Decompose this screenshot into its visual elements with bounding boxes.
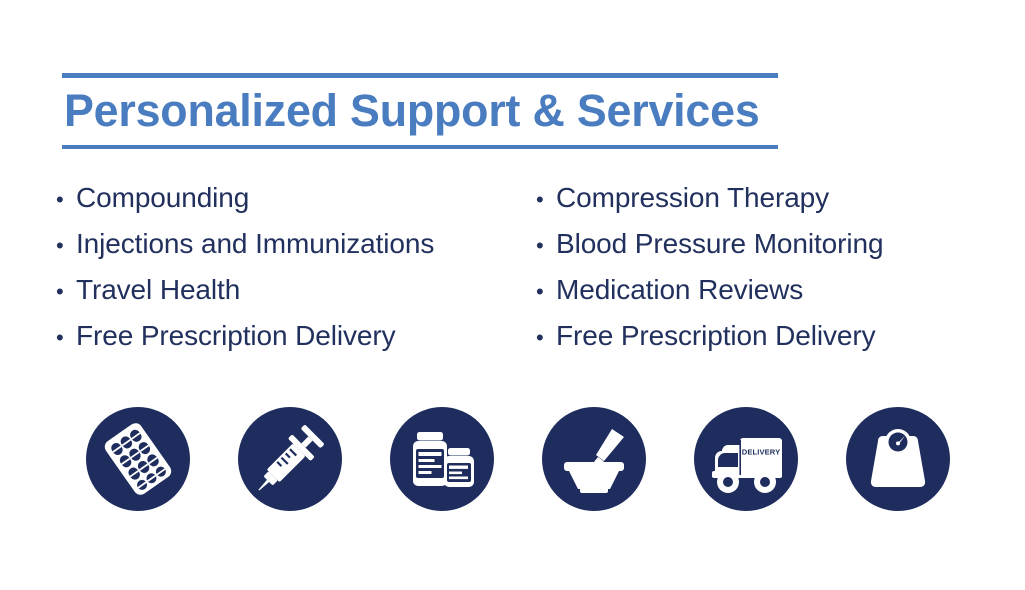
- services-column-left: • Compounding • Injections and Immunizat…: [56, 178, 526, 362]
- list-item: • Blood Pressure Monitoring: [536, 224, 1006, 270]
- bullet-icon: •: [536, 189, 556, 211]
- bullet-icon: •: [56, 189, 76, 211]
- mortar-pestle-icon: [542, 407, 646, 511]
- bullet-icon: •: [536, 327, 556, 349]
- list-item: • Free Prescription Delivery: [536, 316, 1006, 362]
- title-rule-bottom: [62, 145, 778, 149]
- icon-badge-weight-scale: [846, 407, 950, 511]
- title-block: Personalized Support & Services: [62, 73, 778, 149]
- icon-badge-mortar-pestle: [542, 407, 646, 511]
- list-item-label: Blood Pressure Monitoring: [556, 224, 883, 264]
- list-item-label: Injections and Immunizations: [76, 224, 434, 264]
- bullet-icon: •: [56, 281, 76, 303]
- list-item: • Travel Health: [56, 270, 526, 316]
- bullet-icon: •: [56, 327, 76, 349]
- list-item-label: Free Prescription Delivery: [76, 316, 396, 356]
- list-item-label: Medication Reviews: [556, 270, 803, 310]
- list-item: • Injections and Immunizations: [56, 224, 526, 270]
- weight-scale-icon: [846, 407, 950, 511]
- list-item-label: Free Prescription Delivery: [556, 316, 876, 356]
- list-item: • Free Prescription Delivery: [56, 316, 526, 362]
- list-item: • Medication Reviews: [536, 270, 1006, 316]
- services-columns: • Compounding • Injections and Immunizat…: [0, 178, 1025, 368]
- syringe-icon: [238, 407, 342, 511]
- service-icon-row: DELIVERY: [86, 407, 966, 513]
- list-item-label: Travel Health: [76, 270, 240, 310]
- bullet-icon: •: [56, 235, 76, 257]
- delivery-truck-icon: DELIVERY: [694, 407, 798, 511]
- services-column-right: • Compression Therapy • Blood Pressure M…: [536, 178, 1006, 362]
- icon-badge-blister-pack: [86, 407, 190, 511]
- list-item: • Compounding: [56, 178, 526, 224]
- list-item: • Compression Therapy: [536, 178, 1006, 224]
- blister-pack-icon: [86, 407, 190, 511]
- icon-badge-pill-bottles: [390, 407, 494, 511]
- icon-badge-syringe: [238, 407, 342, 511]
- slide-canvas: Personalized Support & Services • Compou…: [0, 0, 1025, 590]
- bullet-icon: •: [536, 235, 556, 257]
- pill-bottles-icon: [390, 407, 494, 511]
- list-item-label: Compression Therapy: [556, 178, 829, 218]
- delivery-truck-badge-text: DELIVERY: [742, 448, 781, 457]
- icon-badge-delivery-truck: DELIVERY: [694, 407, 798, 511]
- page-title: Personalized Support & Services: [62, 78, 774, 145]
- list-item-label: Compounding: [76, 178, 249, 218]
- bullet-icon: •: [536, 281, 556, 303]
